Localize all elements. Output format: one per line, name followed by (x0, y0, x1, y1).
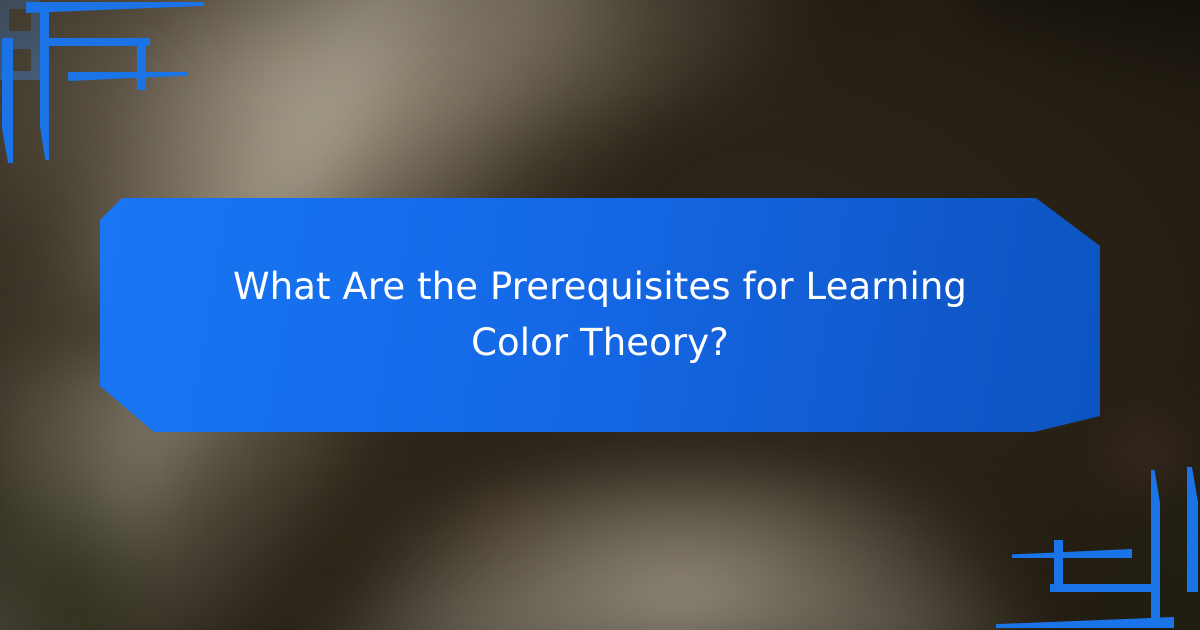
ornament-small-square-outline (0, 0, 40, 40)
page-title: What Are the Prerequisites for Learning … (160, 259, 1040, 371)
ornament-top-bar (26, 2, 204, 13)
title-banner: What Are the Prerequisites for Learning … (100, 198, 1100, 432)
ornament-small-square-outline (0, 40, 40, 80)
social-share-card: What Are the Prerequisites for Learning … (0, 0, 1200, 630)
ornament-bottom-bar (996, 617, 1174, 628)
top-left-corner-ornament (0, 0, 1200, 40)
bottom-right-corner-ornament (0, 40, 1200, 80)
ornament-horizontal-bar-upper (1012, 549, 1132, 558)
ornament-horizontal-bar-lower (1050, 584, 1160, 592)
ornament-outer-vertical-bar (1187, 467, 1198, 592)
ornament-inner-vertical-bar (40, 10, 49, 160)
ornament-inner-vertical-bar (1151, 470, 1160, 620)
ornament-square-riser (1054, 540, 1063, 592)
